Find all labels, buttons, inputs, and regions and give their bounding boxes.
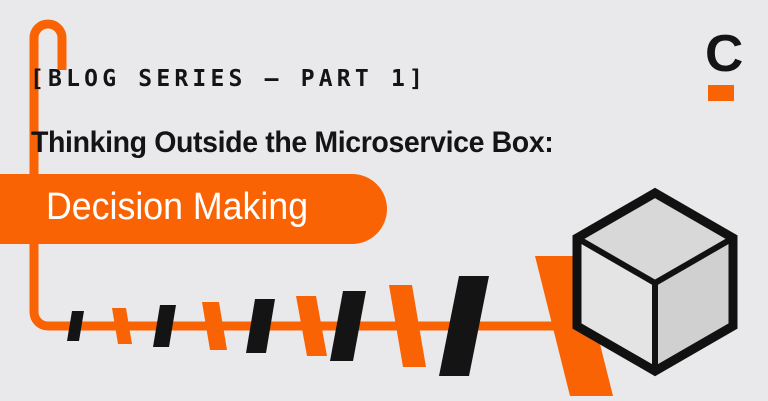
eyebrow-label: [BLOG SERIES – PART 1] (30, 66, 427, 92)
logo-accent-bar-icon (708, 85, 734, 101)
monolith-cube (577, 193, 733, 371)
brand-logo[interactable]: C (705, 31, 739, 95)
logo-letter-c-icon: C (705, 31, 743, 77)
blog-banner: [BLOG SERIES – PART 1] Thinking Outside … (0, 0, 768, 401)
subtitle-pill-label: Decision Making (46, 186, 308, 229)
page-title: Thinking Outside the Microservice Box: (31, 126, 553, 160)
